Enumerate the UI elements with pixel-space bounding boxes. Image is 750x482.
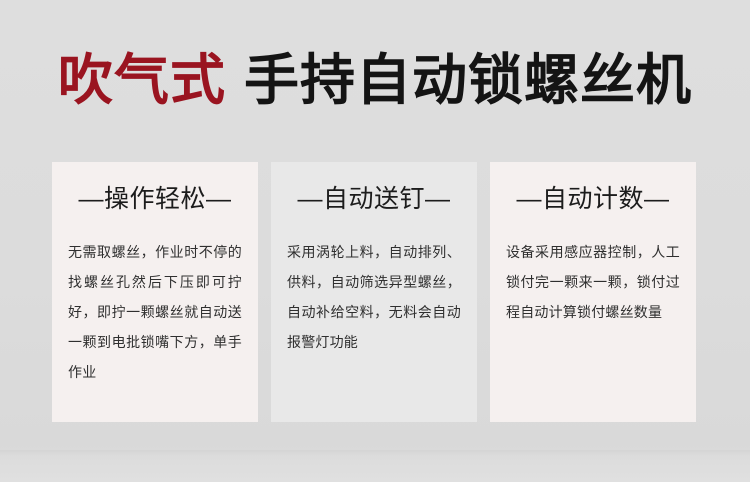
title-main-text: 手持自动锁螺丝机	[244, 53, 692, 108]
product-feature-banner: 吹气式 手持自动锁螺丝机 —操作轻松— 无需取螺丝，作业时不停的找螺丝孔然后下压…	[0, 0, 750, 482]
banner-title: 吹气式 手持自动锁螺丝机	[0, 44, 750, 116]
background-shelf-band	[0, 450, 750, 482]
feature-card-auto-counting: —自动计数— 设备采用感应器控制，人工锁付完一颗来一颗，锁付过程自动计算锁付螺丝…	[490, 162, 696, 422]
feature-card-heading: —操作轻松—	[68, 184, 242, 215]
feature-card-heading: —自动送钉—	[287, 184, 461, 215]
feature-card-body: 设备采用感应器控制，人工锁付完一颗来一颗，锁付过程自动计算锁付螺丝数量	[506, 237, 680, 327]
feature-card-list: —操作轻松— 无需取螺丝，作业时不停的找螺丝孔然后下压即可拧好，即拧一颗螺丝就自…	[52, 162, 696, 422]
feature-card-body: 无需取螺丝，作业时不停的找螺丝孔然后下压即可拧好，即拧一颗螺丝就自动送一颗到电批…	[68, 237, 242, 387]
feature-card-heading: —自动计数—	[506, 184, 680, 215]
feature-card-body: 采用涡轮上料，自动排列、供料，自动筛选异型螺丝，自动补给空料，无料会自动报警灯功…	[287, 237, 461, 357]
title-accent-text: 吹气式	[58, 53, 226, 108]
feature-card-easy-operation: —操作轻松— 无需取螺丝，作业时不停的找螺丝孔然后下压即可拧好，即拧一颗螺丝就自…	[52, 162, 258, 422]
feature-card-auto-feeding: —自动送钉— 采用涡轮上料，自动排列、供料，自动筛选异型螺丝，自动补给空料，无料…	[271, 162, 477, 422]
